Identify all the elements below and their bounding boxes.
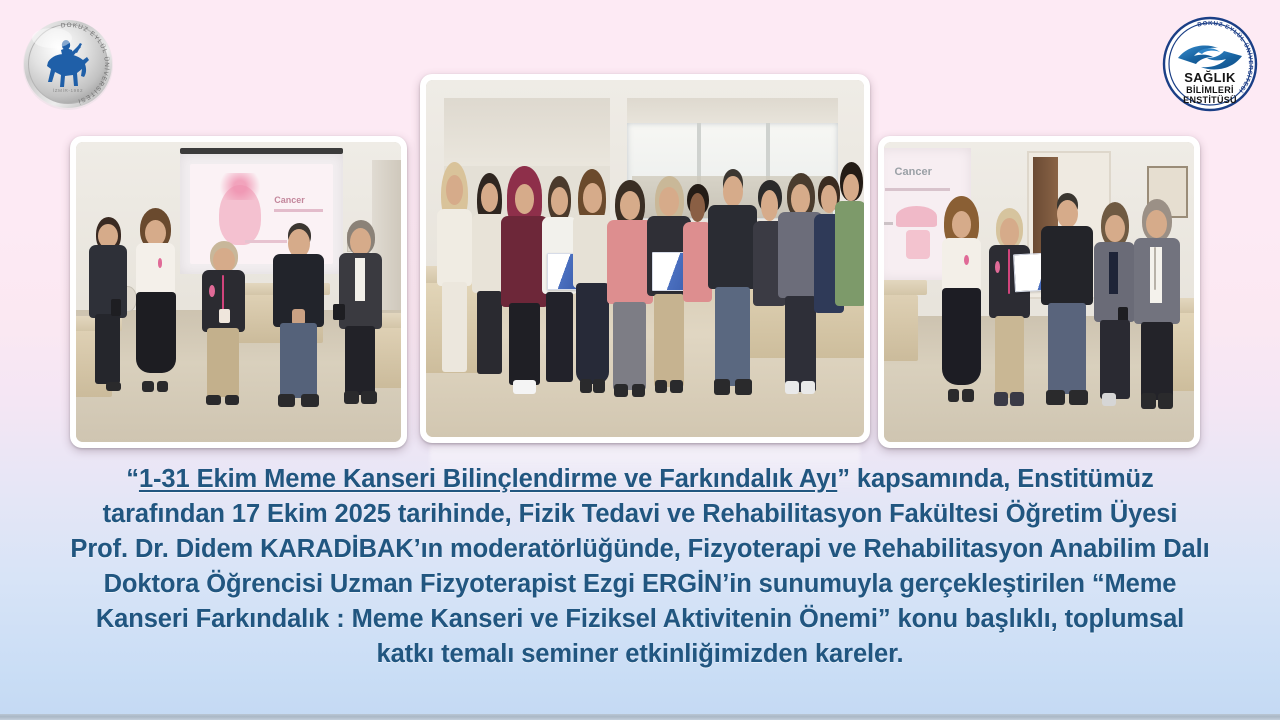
photo-opening-speech[interactable]: Cancer xyxy=(70,136,407,448)
person xyxy=(336,220,385,412)
photo-opening-speech-image: Cancer xyxy=(76,142,401,442)
caption-line-6: katkı temalı seminer etkinliğimizden kar… xyxy=(16,637,1264,672)
svg-text:İZMİR-1982: İZMİR-1982 xyxy=(53,87,83,93)
deu-seal-icon: DOKUZ EYLÜL ÜNİVERSİTESİ İZMİR-1982 xyxy=(14,10,122,118)
photo-certificate-presentation-image: Cancer xyxy=(884,142,1194,442)
dokuz-eylul-universitesi-seal-logo: DOKUZ EYLÜL ÜNİVERSİTESİ İZMİR-1982 xyxy=(14,10,122,118)
health-sciences-institute-badge-icon: DOKUZ EYLÜL ÜNİVERSİTESİ SAĞLIK BİLİMLER… xyxy=(1158,12,1262,116)
badge-line-2: BİLİMLERİ xyxy=(1186,85,1234,95)
caption-line-1: “1-31 Ekim Meme Kanseri Bilinçlendirme v… xyxy=(16,462,1264,497)
quote-open: “ xyxy=(126,465,139,493)
event-caption: “1-31 Ekim Meme Kanseri Bilinçlendirme v… xyxy=(16,462,1264,672)
badge-line-1: SAĞLIK xyxy=(1184,70,1236,85)
person xyxy=(833,162,864,312)
caption-line-5: Kanseri Farkındalık : Meme Kanseri ve Fi… xyxy=(16,602,1264,637)
person xyxy=(986,208,1033,412)
quote-close: ” xyxy=(837,465,850,493)
photo-certificate-presentation[interactable]: Cancer xyxy=(878,136,1200,448)
bottom-edge-strip xyxy=(0,714,1280,720)
person xyxy=(271,223,326,415)
saglik-bilimleri-enstitusu-logo: DOKUZ EYLÜL ÜNİVERSİTESİ SAĞLIK BİLİMLER… xyxy=(1158,12,1262,116)
person xyxy=(937,196,987,406)
person xyxy=(1039,193,1095,412)
caption-line-1-rest: kapsamında, Enstitümüz xyxy=(850,465,1154,493)
person xyxy=(1132,199,1182,415)
person xyxy=(435,162,474,376)
photo-group-certificate-image xyxy=(426,80,864,437)
caption-line-4: Doktora Öğrencisi Uzman Fizyoterapist Ez… xyxy=(16,567,1264,602)
slide-title: Cancer xyxy=(895,166,932,178)
caption-awareness-month: 1-31 Ekim Meme Kanseri Bilinçlendirme ve… xyxy=(139,465,837,493)
person xyxy=(131,208,180,400)
poster-canvas: DOKUZ EYLÜL ÜNİVERSİTESİ İZMİR-1982 xyxy=(0,0,1280,720)
person xyxy=(200,241,249,412)
caption-line-3: Prof. Dr. Didem KARADİBAK’ın moderatörlü… xyxy=(16,532,1264,567)
photo-group-certificate[interactable] xyxy=(420,74,870,443)
person xyxy=(86,217,132,391)
caption-line-2: tarafından 17 Ekim 2025 tarihinde, Fizik… xyxy=(16,497,1264,532)
badge-line-3: ENSTİTÜSÜ xyxy=(1183,95,1237,105)
